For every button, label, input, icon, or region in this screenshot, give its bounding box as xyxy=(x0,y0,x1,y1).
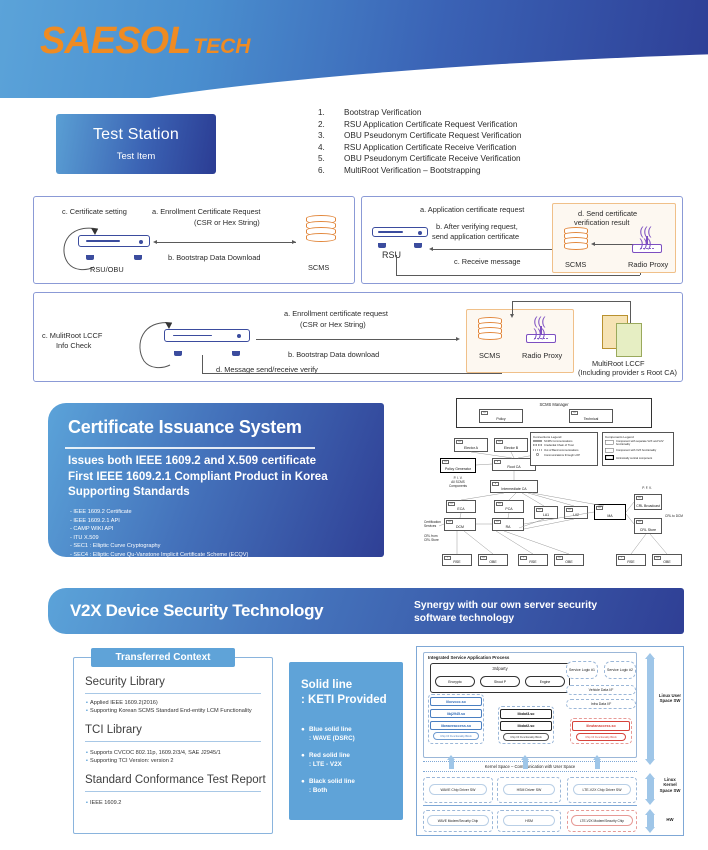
legend-swatch-solid xyxy=(533,440,542,443)
pki-node-elector-a: V,I Elector A xyxy=(454,438,488,452)
line-type-name: Black solid line xyxy=(309,778,355,785)
node-tag: V,I xyxy=(566,508,573,512)
diagram2-label-d2: verification result xyxy=(574,218,629,227)
section-title: V2X Device Security Technology xyxy=(70,601,323,621)
list-item: 3.OBU Pseudonym Certificate Request Veri… xyxy=(318,130,618,142)
pki-node-intermediate-ca: V Intermediate CA xyxy=(490,480,538,493)
bullet-item: ▪Supporting Korean SCMS Standard End-ent… xyxy=(86,707,252,715)
logo-sub-text: TECH xyxy=(193,36,250,57)
scms-database-icon xyxy=(306,215,336,242)
diagram2-label-c: c. Receive message xyxy=(454,257,521,266)
group-divider xyxy=(85,741,261,742)
hw-wave-modem: WAVE Modem/Security Chip xyxy=(427,815,489,826)
scms-database-icon xyxy=(478,317,502,340)
user-space-arrow xyxy=(645,653,656,765)
legend-swatch-central xyxy=(605,455,614,461)
pki-node-policy: V,I Policy xyxy=(479,409,523,423)
test-station-card: Test Station Test Item xyxy=(56,114,216,174)
diagram3-label-a2: (CSR or Hex String) xyxy=(300,320,366,329)
item-label: OBU Pseudonym Certificate Request Verifi… xyxy=(344,130,521,142)
legend-swatch-dotted xyxy=(533,449,542,452)
device-icon xyxy=(164,329,250,351)
node-label: RSE xyxy=(627,560,634,564)
bullet-marker: ● xyxy=(301,777,309,795)
cert-line: Supporting Standards xyxy=(68,484,328,500)
node-tag: V,I xyxy=(480,556,487,560)
company-logo: SAESOL TECH xyxy=(40,22,250,60)
kernel-space-arrow xyxy=(645,773,656,805)
node-label: MA xyxy=(607,514,612,518)
kernel-up-arrow-3 xyxy=(593,755,602,769)
list-item: 6.MultiRoot Verification – Bootstrapping xyxy=(318,165,618,177)
diagram-box-application-cert: a. Application certificate request b. Af… xyxy=(361,196,683,284)
diagram3-top-arrow xyxy=(510,314,514,318)
diagram2-radio-label: Radio Proxy xyxy=(628,260,668,269)
group-heading-security-library: Security Library xyxy=(85,676,165,688)
poster-page: SAESOL TECH Test Station Test Item 1.Boo… xyxy=(0,0,708,850)
line-type-text: Black solid line: Both xyxy=(309,777,355,795)
pki-node-obe-2: V,I OBE xyxy=(554,554,584,566)
legend-label: SCMS Communications xyxy=(544,440,573,443)
item-label: RSU Application Certificate Request Veri… xyxy=(344,119,517,131)
node-label: Policy Generator xyxy=(445,467,471,471)
bullet-marker: ▪ xyxy=(86,700,88,706)
node-label: LA2 xyxy=(573,513,579,517)
note-line: Services xyxy=(424,524,436,528)
node-tag: V,I xyxy=(442,460,449,464)
legend-swatch-lop xyxy=(533,453,542,457)
line-type-name: Red solid line xyxy=(309,752,350,759)
node-label: Elector B xyxy=(504,446,518,450)
node-label: OBE xyxy=(565,560,572,564)
note-line: CRL Store xyxy=(424,538,439,542)
pki-node-dcm: V,I DCM xyxy=(444,518,476,531)
node-tag: V,I xyxy=(481,411,488,415)
user-space-container: Integrated Service Application Process 3… xyxy=(423,652,637,758)
pki-architecture-diagram: SCMS Manager V,I Policy V,I Technical V,… xyxy=(424,396,686,578)
node-label: Root CA xyxy=(507,465,520,469)
pki-node-elector-b: V,I Elector B xyxy=(494,438,528,452)
left-stack-group xyxy=(428,694,484,744)
pki-crl-from-note: CRL from CRL Store xyxy=(424,534,446,542)
bullet-marker: ▪ xyxy=(86,758,88,764)
hw-lte-modem: LTE-V2X Modem/Security Chip xyxy=(571,815,633,826)
test-item-list: 1.Bootstrap Verification 2.RSU Applicati… xyxy=(318,107,618,177)
group-divider xyxy=(85,693,261,694)
list-item: 1.Bootstrap Verification xyxy=(318,107,618,119)
diagram1-arrow-right xyxy=(292,240,296,244)
node-label: RSE xyxy=(529,560,536,564)
diagram1-label-a1: a. Enrollment Certificate Request xyxy=(152,207,260,216)
line-type-item: ●Black solid line: Both xyxy=(301,777,355,795)
diagram3-radio-label: Radio Proxy xyxy=(522,351,562,360)
line-type-text: Red solid line: LTE - V2X xyxy=(309,751,350,769)
node-label: Intermediate CA xyxy=(501,487,526,491)
diagram3-top-bracket xyxy=(512,301,630,302)
logo-main-text: SAESOL xyxy=(40,22,190,60)
diagram3-label-c2: Info Check xyxy=(56,341,91,350)
title-divider xyxy=(65,447,315,449)
group-bullets: ▪Applied IEEE 1609.2(2016) ▪Supporting K… xyxy=(86,699,252,715)
rsu-device-icon xyxy=(372,227,428,243)
diagram2-return-line xyxy=(396,275,640,276)
transferred-context-tab: Transferred Context xyxy=(91,648,235,667)
node-tag: V,I xyxy=(494,520,501,524)
hardware-row: WAVE Modem/Security Chip HSM LTE-V2X Mod… xyxy=(423,810,637,832)
item-number: 1. xyxy=(318,107,344,119)
legend-swatch-single xyxy=(605,448,614,454)
vehicle-data-interface: Vehicle Data I/F xyxy=(566,685,636,695)
pki-node-ra: V,I RA xyxy=(492,518,524,531)
pki-node-eca: V,I ECA xyxy=(446,500,476,513)
pki-node-crl-broadcast: V,I CRL Broadcast xyxy=(634,494,662,510)
node-label: Elector A xyxy=(464,446,478,450)
pki-node-la1: V,I LA1 xyxy=(534,506,558,519)
node-tag: V,I xyxy=(496,440,503,444)
pill-engine: Engine xyxy=(525,676,565,687)
diagram3-scms-label: SCMS xyxy=(479,351,500,360)
legend-label: Communications through LOP xyxy=(544,454,580,457)
standard-item: - SEC4 : Elliptic Curve Qu-Vanstone Impl… xyxy=(70,551,248,560)
integrity-label: 3rdparty xyxy=(431,666,569,671)
test-station-subtitle: Test Item xyxy=(117,151,156,162)
node-tag: V,I xyxy=(496,502,503,506)
legend-label: Component with separate V2X and V2V func… xyxy=(616,440,671,446)
integrated-process-title: Integrated Service Application Process xyxy=(428,655,509,660)
legend-row: Component with separate V2X and V2V func… xyxy=(603,440,673,448)
group-divider xyxy=(85,791,261,792)
pki-node-technical: V,I Technical xyxy=(569,409,613,423)
line-type-item: ●Blue solid line: WAVE (DSRC) xyxy=(301,725,355,743)
diagram3-label-a1: a. Enrollment certificate request xyxy=(284,309,388,318)
legend-row: Communications through LOP xyxy=(531,453,597,458)
diagram3-label-c1: c. MulitRoot LCCF xyxy=(42,331,102,340)
pill-encrypto: Encrypto xyxy=(435,676,475,687)
node-label: Policy xyxy=(496,417,505,421)
kernel-hw-divider xyxy=(423,805,637,806)
item-number: 5. xyxy=(318,153,344,165)
list-item: 2.RSU Application Certificate Request Ve… xyxy=(318,119,618,131)
v2x-security-section: V2X Device Security Technology Synergy w… xyxy=(48,588,684,634)
pki-node-crl-store: V,I CRL Store xyxy=(634,518,662,534)
diagram3-label-b: b. Bootstrap Data download xyxy=(288,350,379,359)
driver-lte-v2x: LTE-V2X Chip Driver SW xyxy=(573,784,631,795)
node-tag: V,I xyxy=(448,502,455,506)
node-label: RA xyxy=(506,525,511,529)
item-number: 6. xyxy=(318,165,344,177)
line-type-item: ●Red solid line: LTE - V2X xyxy=(301,751,355,769)
rsu-obu-device-icon xyxy=(78,235,150,255)
kernel-up-arrow-1 xyxy=(447,755,456,769)
diagram2-label-b2: send application certificate xyxy=(432,232,519,241)
bullet-text: Supports CVCOC 802.11p, 1609.2/3/4, SAE … xyxy=(90,750,221,756)
group-bullets: ▪Supports CVCOC 802.11p, 1609.2/3/4, SAE… xyxy=(86,749,221,765)
node-label: LA1 xyxy=(543,513,549,517)
bullet-text: Applied IEEE 1609.2(2016) xyxy=(90,700,158,706)
subtitle-line: Synergy with our own server security xyxy=(414,599,597,612)
diagram1-connector xyxy=(156,242,296,243)
section-title: Certificate Issuance System xyxy=(68,417,302,438)
radio-proxy-icon: ((( ))) xyxy=(632,233,662,253)
title-line: : KETI Provided xyxy=(301,693,387,708)
pki-node-la2: V,I LA2 xyxy=(564,506,588,519)
standard-item: - SEC1 : Elliptic Curve Cryptography xyxy=(70,542,248,551)
item-number: 4. xyxy=(318,142,344,154)
hardware-space-arrow xyxy=(645,809,656,833)
diagram3-return-vline xyxy=(202,355,203,373)
node-tag: V,I xyxy=(636,496,643,500)
legend-label: Out of Band communications xyxy=(544,449,579,452)
kernel-up-arrow-2 xyxy=(521,755,530,769)
radio-proxy-icon: ((( ))) xyxy=(526,323,556,343)
diagram3-lccf-label2: (Including provider s Root CA) xyxy=(578,368,677,377)
bullet-text: Supporting Korean SCMS Standard End-enti… xyxy=(90,708,252,714)
node-label: RSE xyxy=(453,560,460,564)
service-logic-2: Service Logic #2 xyxy=(604,661,636,679)
driver-hsm: HSM Driver SW xyxy=(503,784,555,795)
diagram2-label-b1: b. After verifying request, xyxy=(436,222,518,231)
item-number: 2. xyxy=(318,119,344,131)
diagram3-lccf-label1: MultiRoot LCCF xyxy=(592,359,645,368)
list-item: 4.RSU Application Certificate Receive Ve… xyxy=(318,142,618,154)
diagram2-label-d1: d. Send certificate xyxy=(578,209,637,218)
test-station-title: Test Station xyxy=(93,126,179,144)
section-subtitle: Synergy with our own server security sof… xyxy=(414,599,597,625)
note-line: Components xyxy=(449,484,467,488)
bullet-text: IEEE 1609.2 xyxy=(90,800,121,806)
diagram3-top-bracket-left xyxy=(512,301,513,315)
pki-node-rse-2: I RSE xyxy=(518,554,548,566)
pki-crl-fr-note: P. F. V. xyxy=(632,486,662,490)
item-label: MultiRoot Verification – Bootstrapping xyxy=(344,165,481,177)
diagram2-inner-connector xyxy=(594,244,636,245)
diagram3-connector xyxy=(256,339,458,340)
pki-policy-note: P. I. V. All SCMS Components xyxy=(434,476,482,488)
node-tag: V,I xyxy=(596,506,603,510)
diagram2-scms-label: SCMS xyxy=(565,260,586,269)
line-type-text: Blue solid line: WAVE (DSRC) xyxy=(309,725,355,743)
node-tag: V,I xyxy=(571,411,578,415)
legend-label: Credential Chain of Trust xyxy=(544,444,574,447)
space-label-kernel: Linux Kernel Space SW xyxy=(657,777,683,793)
item-label: Bootstrap Verification xyxy=(344,107,421,119)
line-type-list: ●Blue solid line: WAVE (DSRC) ●Red solid… xyxy=(301,725,355,803)
title-line: Solid line xyxy=(301,678,387,693)
group-heading-tci-library: TCI Library xyxy=(85,724,142,736)
cert-line: First IEEE 1609.2.1 Compliant Product in… xyxy=(68,469,328,485)
diagram-box-bootstrap: c. Certificate setting a. Enrollment Cer… xyxy=(33,196,355,284)
v2x-software-architecture-diagram: Integrated Service Application Process 3… xyxy=(416,646,684,836)
node-tag: V,I xyxy=(446,520,453,524)
pki-node-pca: V,I PCA xyxy=(494,500,524,513)
bullet-text: Supporting TCI Version: version 2 xyxy=(90,758,174,764)
pki-node-policy-generator: V,I Policy Generator xyxy=(440,458,476,473)
space-label-hw: HW xyxy=(657,817,683,822)
bullet-marker: ● xyxy=(301,751,309,769)
node-tag: I xyxy=(618,556,625,560)
legend-row: Component with V2X functionality xyxy=(603,447,673,454)
legend-swatch-dual xyxy=(605,440,614,446)
diagram2-connector xyxy=(432,249,554,250)
pki-node-ma: V,I MA xyxy=(594,504,626,520)
legend-label: Intrinsically central component xyxy=(616,457,652,460)
diagram1-label-b: b. Bootstrap Data Download xyxy=(168,253,260,262)
diagram-box-multiroot: c. MulitRoot LCCF Info Check a. Enrollme… xyxy=(33,292,683,382)
bullet-marker: ▪ xyxy=(86,708,88,714)
group-heading-test-report: Standard Conformance Test Report xyxy=(85,774,266,786)
node-tag: V,I xyxy=(654,556,661,560)
node-tag: V,I xyxy=(636,520,643,524)
cert-line: Issues both IEEE 1609.2 and X.509 certif… xyxy=(68,453,328,469)
right-stack-group xyxy=(570,718,632,744)
pki-cert-services-note: Certification Services xyxy=(424,520,446,528)
item-number: 3. xyxy=(318,130,344,142)
standard-item: - IEEE 1609.2.1 API xyxy=(70,517,248,526)
node-label: OBE xyxy=(663,560,670,564)
node-tag: V xyxy=(494,460,501,464)
infra-data-interface: Infra Data I/F xyxy=(566,699,636,709)
bullet-marker: ▪ xyxy=(86,750,88,756)
pill-shoutp: Shout P xyxy=(480,676,520,687)
mid-stack-group xyxy=(498,706,554,744)
standard-item: - IEEE 1609.2 Certificate xyxy=(70,508,248,517)
node-label: DCM xyxy=(456,525,464,529)
group-bullets: ▪IEEE 1609.2 xyxy=(86,799,121,807)
standard-item: - CAMP WIKI API xyxy=(70,525,248,534)
hw-hsm: HSM xyxy=(503,815,555,826)
subtitle-line: software technology xyxy=(414,612,597,625)
list-item: 5.OBU Pseudonym Certificate Receive Veri… xyxy=(318,153,618,165)
driver-row: WAVE Chip Driver SW HSM Driver SW LTE-V2… xyxy=(423,777,637,803)
cert-headline-lines: Issues both IEEE 1609.2 and X.509 certif… xyxy=(68,453,328,500)
node-tag: V xyxy=(492,482,499,486)
node-tag: V,I xyxy=(556,556,563,560)
diagram3-arrow-right xyxy=(456,337,460,341)
bullet-item: ▪Supporting TCI Version: version 2 xyxy=(86,757,221,765)
diagram1-arrow-left xyxy=(153,240,157,244)
solid-line-legend-panel: Solid line : KETI Provided ●Blue solid l… xyxy=(289,662,403,820)
multiroot-lccf-docs-icon xyxy=(602,315,648,355)
pki-node-rse-3: I RSE xyxy=(616,554,646,566)
components-legend: Components Legend Component with separat… xyxy=(602,432,674,466)
node-label: PCA xyxy=(505,507,512,511)
line-type-desc: : Both xyxy=(309,787,327,794)
diagram2-device-label: RSU xyxy=(382,251,401,260)
bullet-item: ▪IEEE 1609.2 xyxy=(86,799,121,807)
legend-swatch-dashed xyxy=(533,444,542,447)
pki-node-obe-1: V,I OBE xyxy=(478,554,508,566)
line-type-name: Blue solid line xyxy=(309,726,352,733)
bullet-item: ▪Applied IEEE 1609.2(2016) xyxy=(86,699,252,707)
diagram2-return-vline xyxy=(396,255,397,275)
diagram2-inner-arrow xyxy=(591,242,595,246)
connections-legend: Connections Legend SCMS Communications C… xyxy=(530,432,598,466)
node-label: ECA xyxy=(457,507,464,511)
pki-node-obe-3: V,I OBE xyxy=(652,554,682,566)
line-type-desc: : WAVE (DSRC) xyxy=(309,735,355,742)
item-label: OBU Pseudonym Certificate Receive Verifi… xyxy=(344,153,521,165)
bullet-item: ▪Supports CVCOC 802.11p, 1609.2/3/4, SAE… xyxy=(86,749,221,757)
item-label: RSU Application Certificate Receive Veri… xyxy=(344,142,516,154)
diagram2-arrow-left xyxy=(429,247,433,251)
diagram2-label-a: a. Application certificate request xyxy=(420,205,524,214)
node-tag: I xyxy=(444,556,451,560)
bullet-marker: ▪ xyxy=(86,800,88,806)
legend-row: Intrinsically central component xyxy=(603,454,673,461)
certificate-issuance-section: Certificate Issuance System Issues both … xyxy=(48,403,384,557)
pki-node-rse-1: I RSE xyxy=(442,554,472,566)
diagram1-device-label: RSU/OBU xyxy=(90,265,124,274)
transferred-context-panel: Transferred Context Security Library ▪Ap… xyxy=(73,648,273,834)
diagram1-scms-label: SCMS xyxy=(308,263,329,272)
diagram1-label-a2: (CSR or Hex String) xyxy=(194,218,260,227)
service-logic-1: Service Logic #1 xyxy=(566,661,598,679)
space-label-user: Linux User Space SW xyxy=(657,693,683,704)
node-label: CRL Broadcast xyxy=(636,504,660,508)
diagram3-return-line xyxy=(202,373,502,374)
node-tag: V,I xyxy=(456,440,463,444)
scms-manager-title: SCMS Manager xyxy=(457,402,651,407)
cert-standards-list: - IEEE 1609.2 Certificate - IEEE 1609.2.… xyxy=(70,508,248,560)
integrity-box: 3rdparty Encrypto Shout P Engine xyxy=(430,663,570,693)
legend-label: Component with V2X functionality xyxy=(616,449,656,452)
bullet-marker: ● xyxy=(301,725,309,743)
node-label: CRL Store xyxy=(640,528,656,532)
node-tag: V,I xyxy=(536,508,543,512)
node-label: OBE xyxy=(489,560,496,564)
driver-wave: WAVE Chip Driver SW xyxy=(429,784,487,795)
pki-crl-to-dcm-note: CRL to DCM xyxy=(662,514,686,518)
node-tag: I xyxy=(520,556,527,560)
scms-database-icon xyxy=(564,227,588,250)
node-label: Technical xyxy=(584,417,599,421)
line-type-desc: : LTE - V2X xyxy=(309,761,342,768)
standard-item: - ITU X.509 xyxy=(70,534,248,543)
panel-title: Solid line : KETI Provided xyxy=(301,678,387,708)
diagram1-label-c: c. Certificate setting xyxy=(62,207,127,216)
scms-manager-box: SCMS Manager V,I Policy V,I Technical xyxy=(456,398,652,428)
